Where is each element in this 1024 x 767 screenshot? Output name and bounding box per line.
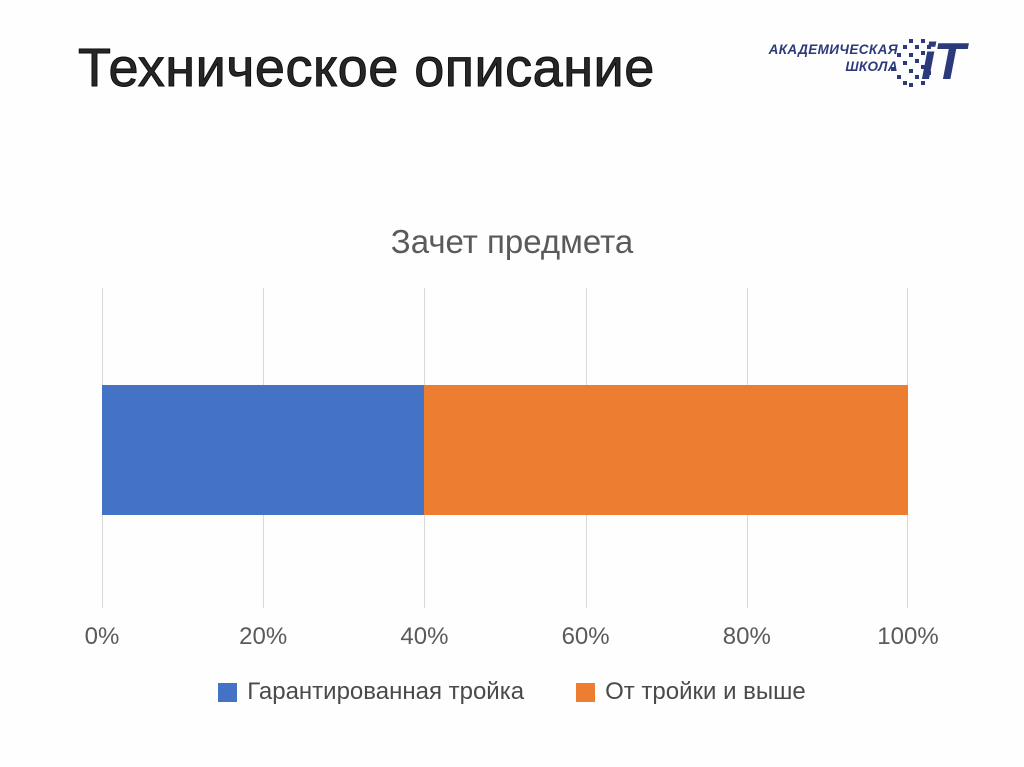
chart-plot-area: [102, 288, 908, 608]
bar-segment-1[interactable]: [102, 385, 424, 515]
logo-wordmark: АКАДЕМИЧЕСКАЯ ШКОЛА: [733, 41, 898, 75]
logo-line-2: ШКОЛА: [733, 58, 898, 75]
chart-bar-stacked: [102, 385, 908, 515]
legend-swatch-icon: [576, 683, 595, 702]
slide-canvas: Техническое описание АКАДЕМИЧЕСКАЯ ШКОЛА: [0, 0, 1024, 767]
page-title: Техническое описание: [78, 33, 698, 105]
chart-container: Зачет предмета 0%20%40%60%80%100% Гарант…: [0, 200, 1024, 730]
bar-segment-2[interactable]: [424, 385, 908, 515]
x-tick-label: 80%: [723, 622, 771, 652]
legend-label: Гарантированная тройка: [247, 678, 524, 706]
chart-title: Зачет предмета: [0, 220, 1024, 264]
legend-item-1[interactable]: Гарантированная тройка: [218, 678, 524, 706]
x-tick-label: 0%: [85, 622, 120, 652]
chart-x-axis-labels: 0%20%40%60%80%100%: [102, 608, 908, 654]
legend-item-2[interactable]: От тройки и выше: [576, 678, 806, 706]
legend-swatch-icon: [218, 683, 237, 702]
chart-legend: Гарантированная тройкаОт тройки и выше: [0, 678, 1024, 706]
x-tick-label: 100%: [877, 622, 938, 652]
brand-logo: АКАДЕМИЧЕСКАЯ ШКОЛА: [733, 29, 968, 101]
x-tick-label: 20%: [239, 622, 287, 652]
x-tick-label: 40%: [400, 622, 448, 652]
x-tick-label: 60%: [562, 622, 610, 652]
logo-line-1: АКАДЕМИЧЕСКАЯ: [733, 41, 898, 58]
logo-it-mark: iT: [921, 31, 963, 93]
legend-label: От тройки и выше: [605, 678, 806, 706]
